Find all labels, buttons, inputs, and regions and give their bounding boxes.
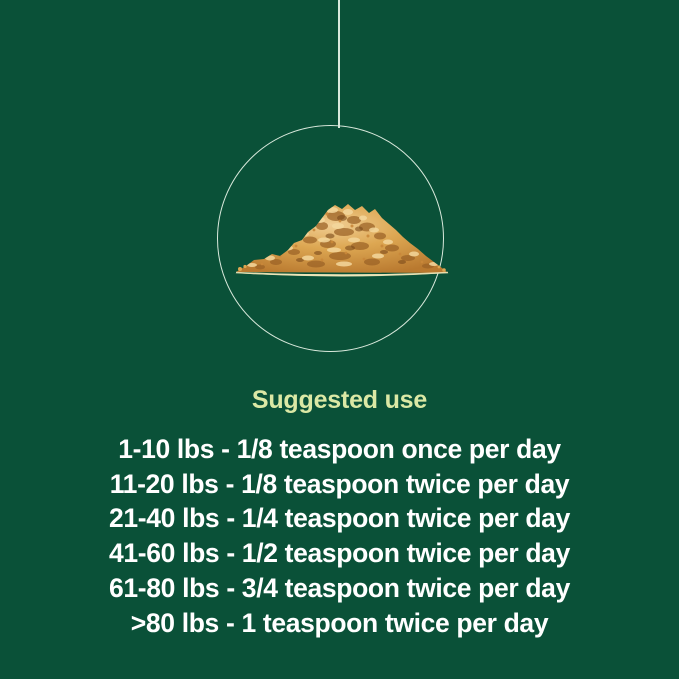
powder-mound-illustration [232,196,452,278]
list-item: 61-80 lbs - 3/4 teaspoon twice per day [0,571,679,606]
list-item: 1-10 lbs - 1/8 teaspoon once per day [0,432,679,467]
list-item: >80 lbs - 1 teaspoon twice per day [0,606,679,641]
page-title: Suggested use [0,386,679,415]
suggested-use-panel: Suggested use 1-10 lbs - 1/8 teaspoon on… [0,0,679,679]
list-item: 11-20 lbs - 1/8 teaspoon twice per day [0,467,679,502]
list-item: 41-60 lbs - 1/2 teaspoon twice per day [0,536,679,571]
dosage-list: 1-10 lbs - 1/8 teaspoon once per day 11-… [0,432,679,640]
hanging-line [338,0,340,128]
list-item: 21-40 lbs - 1/4 teaspoon twice per day [0,501,679,536]
